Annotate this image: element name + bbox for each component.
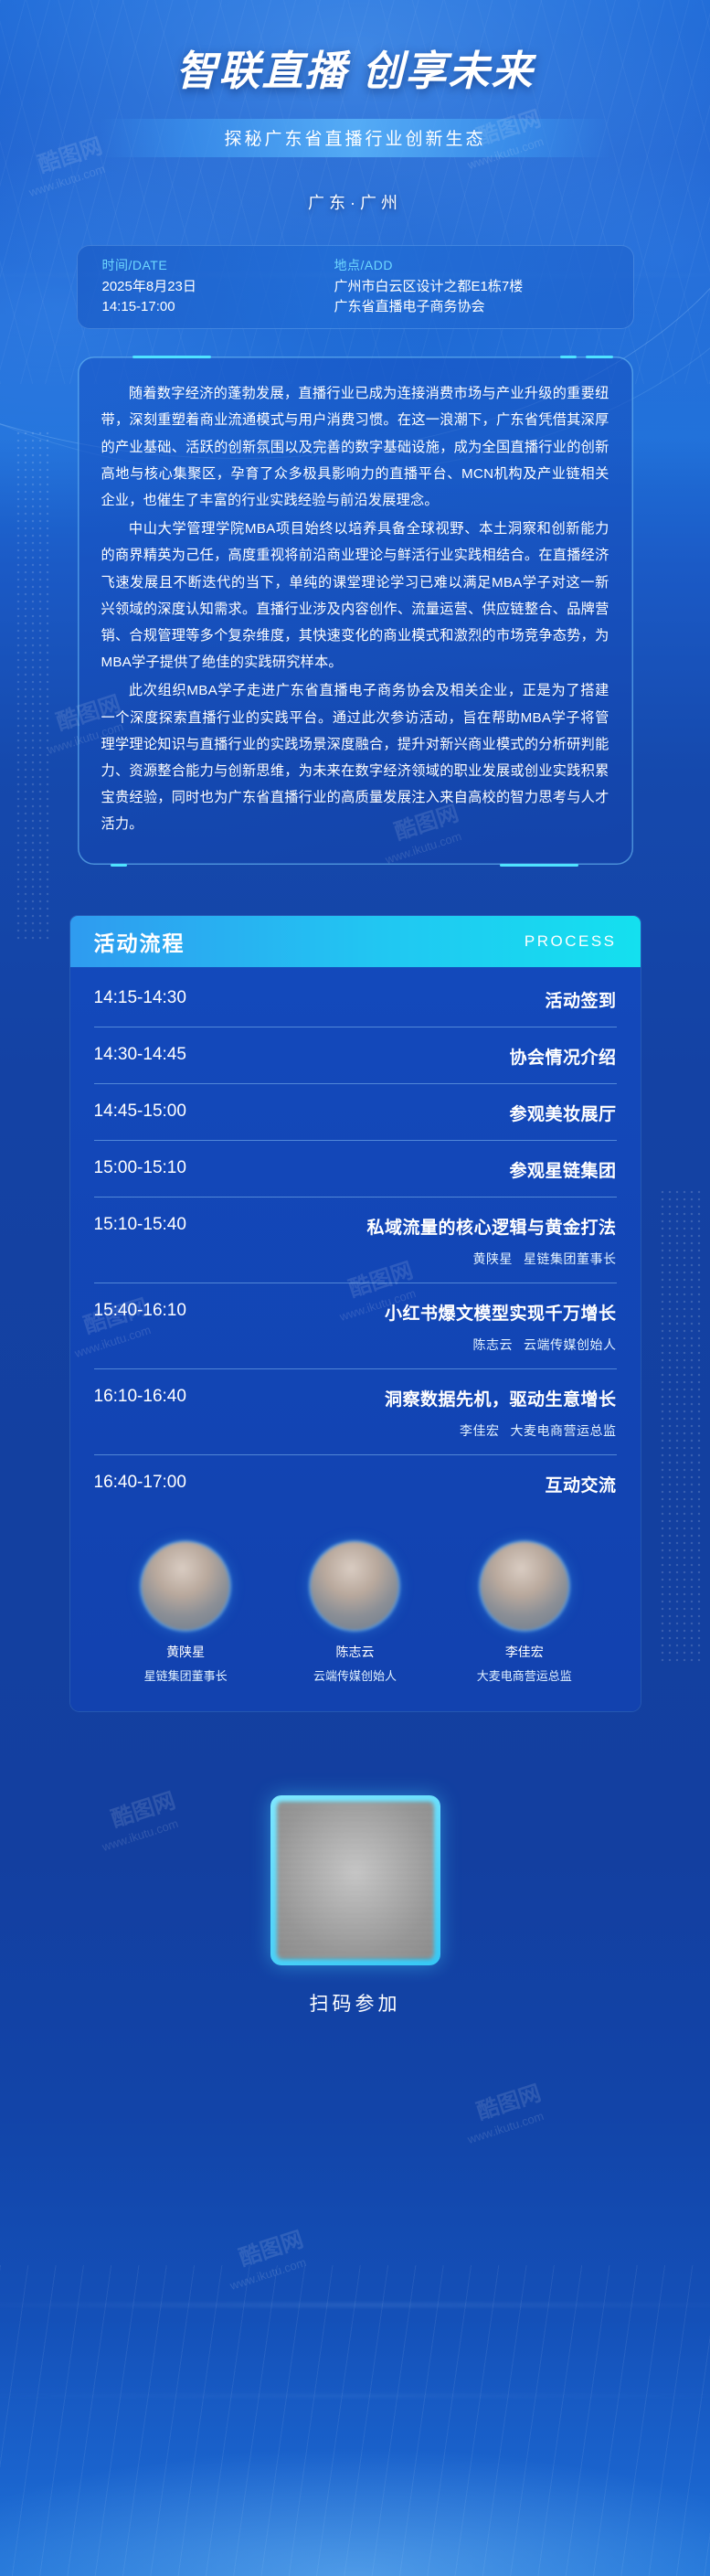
intro-card: 随着数字经济的蓬勃发展，直播行业已成为连接消费市场与产业升级的重要纽带，深刻重塑…	[78, 357, 633, 865]
speakers-section: 黄陕星 星链集团董事长 陈志云 云端传媒创始人 李佳宏 大麦电商营运总监	[70, 1518, 641, 1711]
row-topic: 互动交流	[545, 1472, 616, 1496]
info-address-column: 地点/ADD 广州市白云区设计之都E1栋7楼 广东省直播电子商务协会	[309, 256, 634, 317]
speaker-card: 陈志云 云端传媒创始人	[286, 1542, 423, 1684]
table-row: 14:45-15:00 参观美妆展厅	[94, 1084, 617, 1141]
title-part-1: 智联直播	[175, 48, 347, 94]
address-value-line2: 广东省直播电子商务协会	[334, 297, 634, 317]
row-content: 活动签到	[545, 987, 616, 1012]
qr-caption: 扫码参加	[0, 1989, 710, 2017]
speaker-role: 大麦电商营运总监	[456, 1666, 593, 1684]
speaker-role: 云端传媒创始人	[286, 1666, 423, 1684]
row-content: 洞察数据先机，驱动生意增长 李佳宏大麦电商营运总监	[385, 1386, 617, 1440]
avatar	[481, 1542, 568, 1630]
speaker-name: 陈志云	[286, 1643, 423, 1661]
subtitle-bar: 探秘广东省直播行业创新生态	[100, 119, 611, 157]
process-rows: 14:15-14:30 活动签到 14:30-14:45 协会情况介绍 14:4…	[70, 967, 641, 1518]
speaker-card: 李佳宏 大麦电商营运总监	[456, 1542, 593, 1684]
footer-glow	[0, 2265, 710, 2576]
card-accent-dash-bottom-left	[111, 864, 127, 867]
avatar	[142, 1542, 229, 1630]
row-speaker-name: 李佳宏	[460, 1423, 500, 1438]
row-speaker-role: 云端传媒创始人	[524, 1337, 617, 1352]
qr-code-image	[277, 1802, 434, 1959]
page-subtitle: 探秘广东省直播行业创新生态	[224, 125, 485, 150]
row-content: 私域流量的核心逻辑与黄金打法 黄陕星星链集团董事长	[366, 1214, 616, 1268]
table-row: 14:15-14:30 活动签到	[94, 971, 617, 1027]
address-value-line1: 广州市白云区设计之都E1栋7楼	[334, 277, 634, 297]
process-section: 活动流程 PROCESS 14:15-14:30 活动签到 14:30-14:4…	[70, 916, 641, 1711]
row-content: 参观美妆展厅	[509, 1101, 616, 1125]
card-accent-dash-top-left	[132, 356, 211, 358]
city-label: 广东·广州	[0, 190, 710, 214]
process-title: 活动流程	[94, 926, 185, 957]
row-content: 参观星链集团	[509, 1157, 616, 1182]
row-time: 16:40-17:00	[94, 1472, 186, 1493]
row-topic: 协会情况介绍	[509, 1044, 616, 1069]
row-speaker-name: 陈志云	[473, 1337, 514, 1352]
row-content: 小红书爆文模型实现千万增长 陈志云云端传媒创始人	[385, 1300, 617, 1354]
row-time: 14:30-14:45	[94, 1044, 186, 1065]
row-content: 互动交流	[545, 1472, 616, 1496]
avatar	[311, 1542, 398, 1630]
speaker-name: 李佳宏	[456, 1643, 593, 1661]
card-accent-dash-top-right-2	[560, 356, 577, 358]
qr-section: 扫码参加	[0, 1795, 710, 2017]
row-topic: 参观星链集团	[509, 1157, 616, 1182]
info-date-column: 时间/DATE 2025年8月23日 14:15-17:00	[77, 256, 309, 317]
row-topic: 活动签到	[545, 987, 616, 1012]
poster-header: 智联直播创享未来 探秘广东省直播行业创新生态 广东·广州	[0, 0, 710, 214]
watermark-url: www.ikutu.com	[466, 2109, 546, 2146]
card-accent-dash-bottom-right	[500, 864, 578, 867]
speaker-card: 黄陕星 星链集团董事长	[117, 1542, 254, 1684]
background-dots-left	[15, 430, 51, 942]
date-label: 时间/DATE	[102, 256, 309, 274]
background-dots-right	[659, 1188, 701, 1664]
intro-paragraph-2: 中山大学管理学院MBA项目始终以培养具备全球视野、本土洞察和创新能力的商界精英为…	[101, 516, 609, 676]
card-accent-dash-top-right	[586, 356, 613, 358]
row-time: 14:15-14:30	[94, 987, 186, 1008]
table-row: 16:10-16:40 洞察数据先机，驱动生意增长 李佳宏大麦电商营运总监	[94, 1369, 617, 1455]
row-time: 15:10-15:40	[94, 1214, 186, 1235]
row-time: 14:45-15:00	[94, 1101, 186, 1122]
table-row: 15:00-15:10 参观星链集团	[94, 1141, 617, 1198]
process-title-en: PROCESS	[525, 932, 617, 951]
address-label: 地点/ADD	[334, 256, 634, 274]
speaker-role: 星链集团董事长	[117, 1666, 254, 1684]
title-part-2: 创享未来	[363, 48, 535, 94]
background-glow-band-2	[0, 2304, 710, 2306]
date-value-line1: 2025年8月23日	[102, 277, 309, 297]
row-time: 15:40-16:10	[94, 1300, 186, 1321]
row-topic: 洞察数据先机，驱动生意增长	[385, 1386, 617, 1410]
page-title: 智联直播创享未来	[0, 48, 710, 95]
process-header: 活动流程 PROCESS	[70, 916, 641, 967]
row-speaker: 李佳宏大麦电商营运总监	[385, 1421, 617, 1440]
row-speaker-role: 星链集团董事长	[524, 1251, 617, 1266]
row-topic: 参观美妆展厅	[509, 1101, 616, 1125]
table-row: 15:40-16:10 小红书爆文模型实现千万增长 陈志云云端传媒创始人	[94, 1283, 617, 1369]
watermark-brand: 酷图网	[472, 2075, 544, 2126]
row-speaker-role: 大麦电商营运总监	[511, 1423, 617, 1438]
intro-paragraph-3: 此次组织MBA学子走进广东省直播电子商务协会及相关企业，正是为了搭建一个深度探索…	[101, 677, 609, 837]
watermark-brand: 酷图网	[234, 2221, 306, 2273]
table-row: 15:10-15:40 私域流量的核心逻辑与黄金打法 黄陕星星链集团董事长	[94, 1198, 617, 1283]
row-time: 16:10-16:40	[94, 1386, 186, 1407]
row-speaker-name: 黄陕星	[473, 1251, 514, 1266]
poster-root: 智联直播创享未来 探秘广东省直播行业创新生态 广东·广州 时间/DATE 202…	[0, 0, 710, 2576]
row-content: 协会情况介绍	[509, 1044, 616, 1069]
date-value-line2: 14:15-17:00	[102, 297, 309, 317]
background-glow-band-3	[0, 2395, 710, 2397]
table-row: 16:40-17:00 互动交流	[94, 1455, 617, 1511]
event-info-box: 时间/DATE 2025年8月23日 14:15-17:00 地点/ADD 广州…	[77, 245, 634, 330]
row-speaker: 黄陕星星链集团董事长	[366, 1250, 616, 1268]
qr-code[interactable]	[270, 1795, 440, 1965]
row-speaker: 陈志云云端传媒创始人	[385, 1336, 617, 1354]
row-time: 15:00-15:10	[94, 1157, 186, 1178]
table-row: 14:30-14:45 协会情况介绍	[94, 1027, 617, 1084]
speaker-name: 黄陕星	[117, 1643, 254, 1661]
intro-section: 随着数字经济的蓬勃发展，直播行业已成为连接消费市场与产业升级的重要纽带，深刻重塑…	[78, 357, 633, 865]
intro-paragraph-1: 随着数字经济的蓬勃发展，直播行业已成为连接消费市场与产业升级的重要纽带，深刻重塑…	[101, 380, 609, 514]
watermark-url: www.ikutu.com	[228, 2255, 308, 2293]
row-topic: 小红书爆文模型实现千万增长	[385, 1300, 617, 1325]
row-topic: 私域流量的核心逻辑与黄金打法	[366, 1214, 616, 1239]
